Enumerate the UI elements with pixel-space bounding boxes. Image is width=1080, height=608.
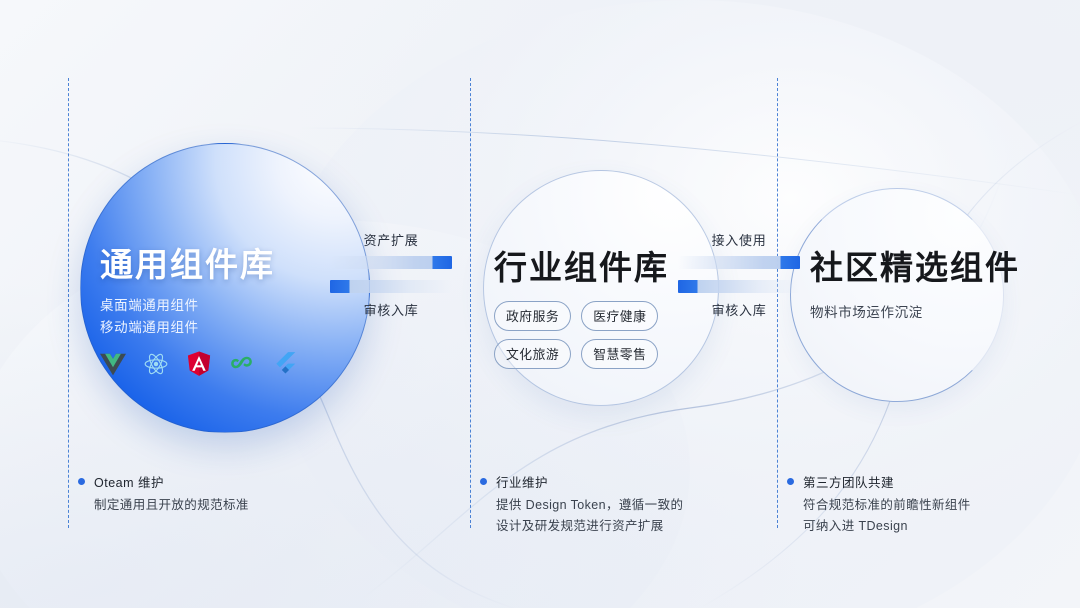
footnote-general: Oteam 维护 制定通用且开放的规范标准 [78,472,249,516]
framework-icon-row [100,351,360,377]
angular-icon [186,351,212,377]
industry-tag[interactable]: 医疗健康 [581,301,658,331]
vue-icon [100,351,126,377]
connector-1-backward-label: 审核入库 [330,300,452,319]
flutter-icon [272,351,298,377]
footnote-community: 第三方团队共建 符合规范标准的前瞻性新组件 可纳入进 TDesign [787,472,971,536]
industry-tag[interactable]: 文化旅游 [494,339,571,369]
miniprogram-icon [229,351,255,377]
connector-1-forward-bar [330,256,452,269]
react-icon [143,351,169,377]
general-library-subtitle: 桌面端通用组件 移动端通用组件 [100,295,360,339]
industry-tag[interactable]: 政府服务 [494,301,571,331]
connector-2-forward-label: 接入使用 [678,230,800,249]
diagram-canvas: 通用组件库 桌面端通用组件 移动端通用组件 [0,0,1080,608]
divider-dashed-left [68,78,69,528]
footnote-community-line-1: 符合规范标准的前瞻性新组件 [803,495,971,516]
footnote-industry-title: 行业维护 [496,472,548,491]
footnote-community-head: 第三方团队共建 [787,472,971,491]
connector-1-backward-bar [330,280,452,293]
footnote-general-body: 制定通用且开放的规范标准 [94,495,249,516]
footnote-community-body: 符合规范标准的前瞻性新组件 可纳入进 TDesign [803,495,971,536]
footnote-industry-body: 提供 Design Token，遵循一致的 设计及研发规范进行资产扩展 [496,495,683,536]
footnote-industry-line-2: 设计及研发规范进行资产扩展 [496,516,683,537]
connector-2-backward-label: 审核入库 [678,300,800,319]
community-library-subtitle: 物料市场运作沉淀 [810,302,1040,324]
connector-1-forward-label: 资产扩展 [330,230,452,249]
bullet-dot-icon [787,478,794,485]
industry-tag-list: 政府服务 医疗健康 文化旅游 智慧零售 [494,301,689,369]
footnote-general-title: Oteam 维护 [94,472,164,491]
connector-general-to-industry: 资产扩展 审核入库 [330,230,452,319]
footnote-community-title: 第三方团队共建 [803,472,894,491]
bullet-dot-icon [480,478,487,485]
general-subtitle-line-1: 桌面端通用组件 [100,295,360,317]
footnote-community-line-2: 可纳入进 TDesign [803,516,971,537]
general-subtitle-line-2: 移动端通用组件 [100,317,360,339]
community-library-block: 社区精选组件 物料市场运作沉淀 [810,250,1040,324]
connector-2-backward-bar [678,280,800,293]
connector-2-forward-bar [678,256,800,269]
general-library-title: 通用组件库 [100,247,360,284]
industry-library-title: 行业组件库 [494,250,694,287]
industry-library-block: 行业组件库 政府服务 医疗健康 文化旅游 智慧零售 [494,250,694,369]
connector-industry-to-community: 接入使用 审核入库 [678,230,800,319]
bullet-dot-icon [78,478,85,485]
divider-dashed-middle [470,78,471,528]
community-library-title: 社区精选组件 [810,250,1040,287]
industry-tag[interactable]: 智慧零售 [581,339,658,369]
footnote-industry-line-1: 提供 Design Token，遵循一致的 [496,495,683,516]
footnote-industry-head: 行业维护 [480,472,683,491]
footnote-general-head: Oteam 维护 [78,472,249,491]
general-library-block: 通用组件库 桌面端通用组件 移动端通用组件 [100,247,360,377]
footnote-general-line-1: 制定通用且开放的规范标准 [94,495,249,516]
footnote-industry: 行业维护 提供 Design Token，遵循一致的 设计及研发规范进行资产扩展 [480,472,683,536]
